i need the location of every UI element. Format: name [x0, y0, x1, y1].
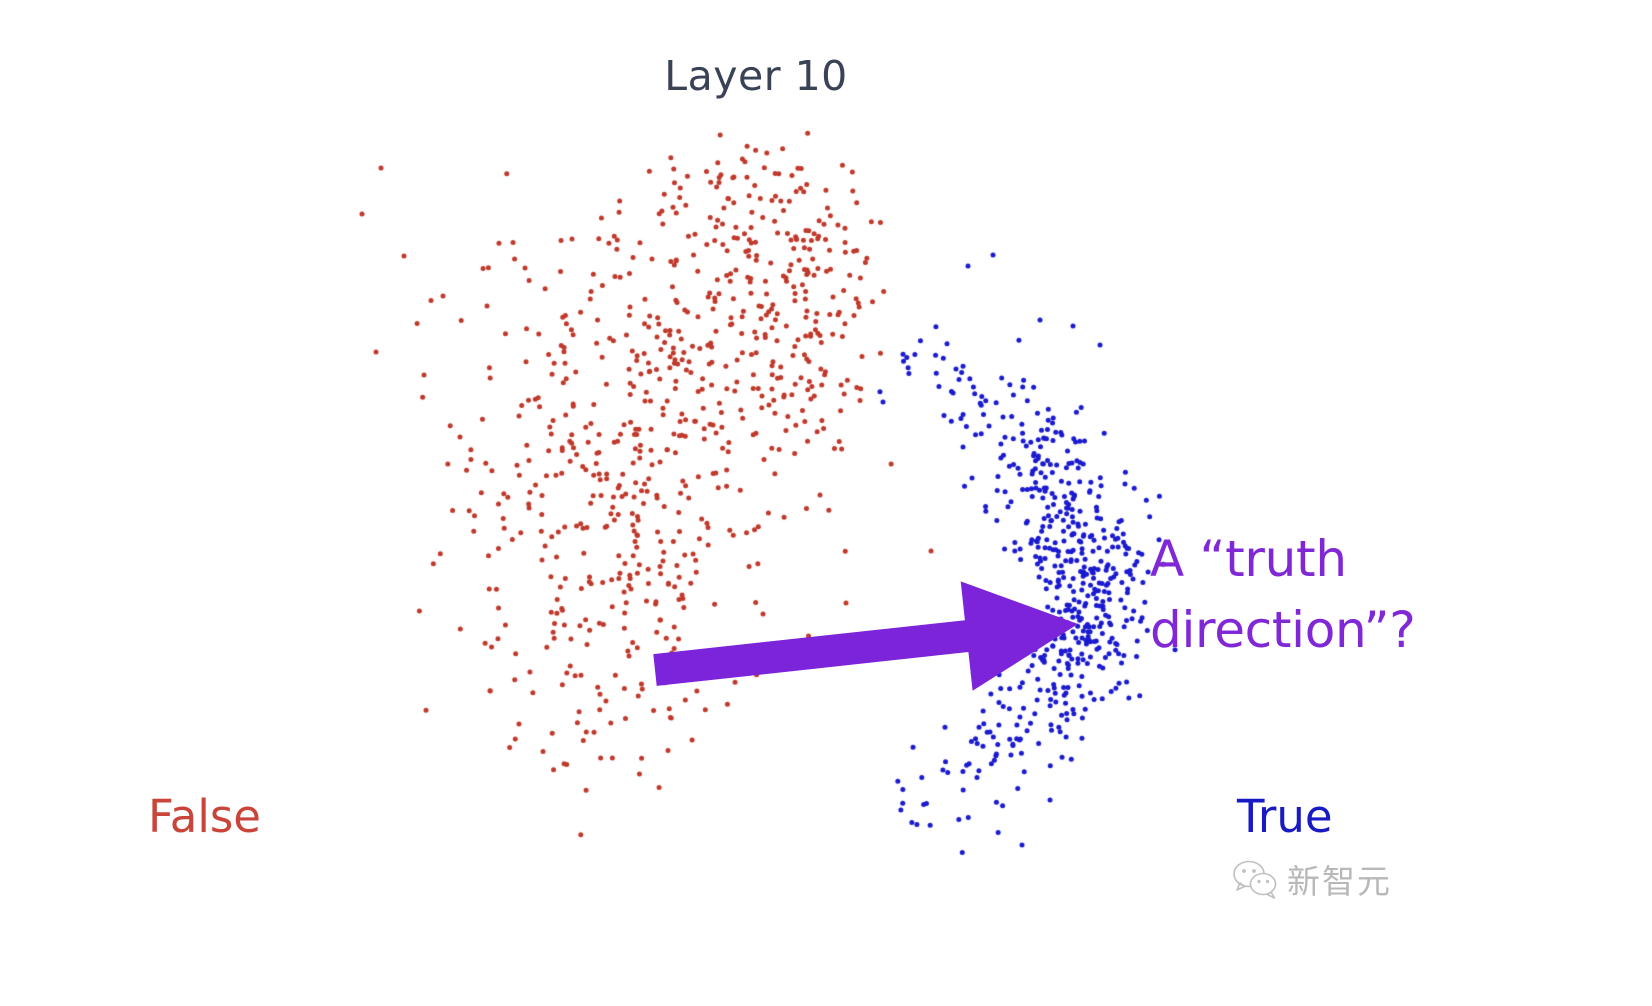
- truth-direction-annotation: A “truth direction”?: [1150, 524, 1416, 666]
- scatter-point-cloud: [0, 0, 1652, 1006]
- watermark-text: 新智元: [1287, 855, 1392, 903]
- watermark: 新智元: [1232, 855, 1392, 903]
- axis-label-true: True: [1237, 790, 1333, 843]
- wechat-icon: [1232, 859, 1278, 899]
- axis-label-false: False: [148, 790, 261, 843]
- scatter-plot-figure: Layer 10 False True A “truth direction”?…: [0, 0, 1652, 1006]
